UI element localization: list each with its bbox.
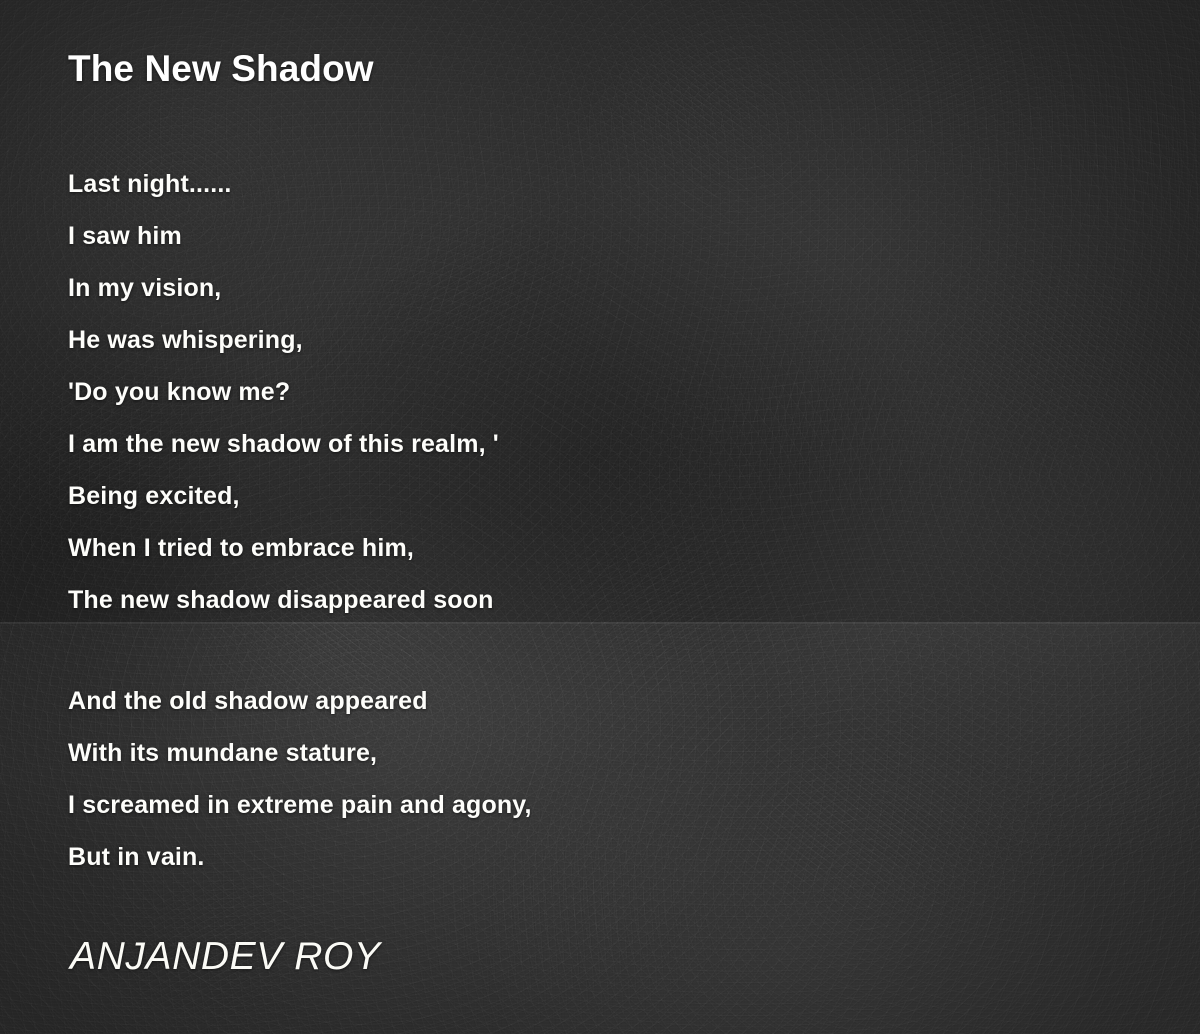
poem-line: 'Do you know me? — [68, 366, 499, 418]
poem-line: I screamed in extreme pain and agony, — [68, 779, 532, 831]
poem-line: The new shadow disappeared soon — [68, 574, 499, 626]
poem-line: With its mundane stature, — [68, 727, 532, 779]
poem-author-signature: ANJANDEV ROY — [70, 935, 381, 979]
poem-line: But in vain. — [68, 831, 532, 883]
poem-stanza-1: Last night...... I saw him In my vision,… — [68, 158, 499, 626]
poem-image-card: The New Shadow Last night...... I saw hi… — [0, 0, 1200, 1034]
poem-line: Being excited, — [68, 470, 499, 522]
poem-line: And the old shadow appeared — [68, 675, 532, 727]
poem-line: When I tried to embrace him, — [68, 522, 499, 574]
poem-content: The New Shadow Last night...... I saw hi… — [0, 0, 1200, 1034]
poem-title: The New Shadow — [68, 48, 374, 90]
poem-line: I am the new shadow of this realm, ' — [68, 418, 499, 470]
poem-line: I saw him — [68, 210, 499, 262]
poem-line: Last night...... — [68, 158, 499, 210]
poem-line: He was whispering, — [68, 314, 499, 366]
poem-line: In my vision, — [68, 262, 499, 314]
poem-stanza-2: And the old shadow appeared With its mun… — [68, 675, 532, 883]
